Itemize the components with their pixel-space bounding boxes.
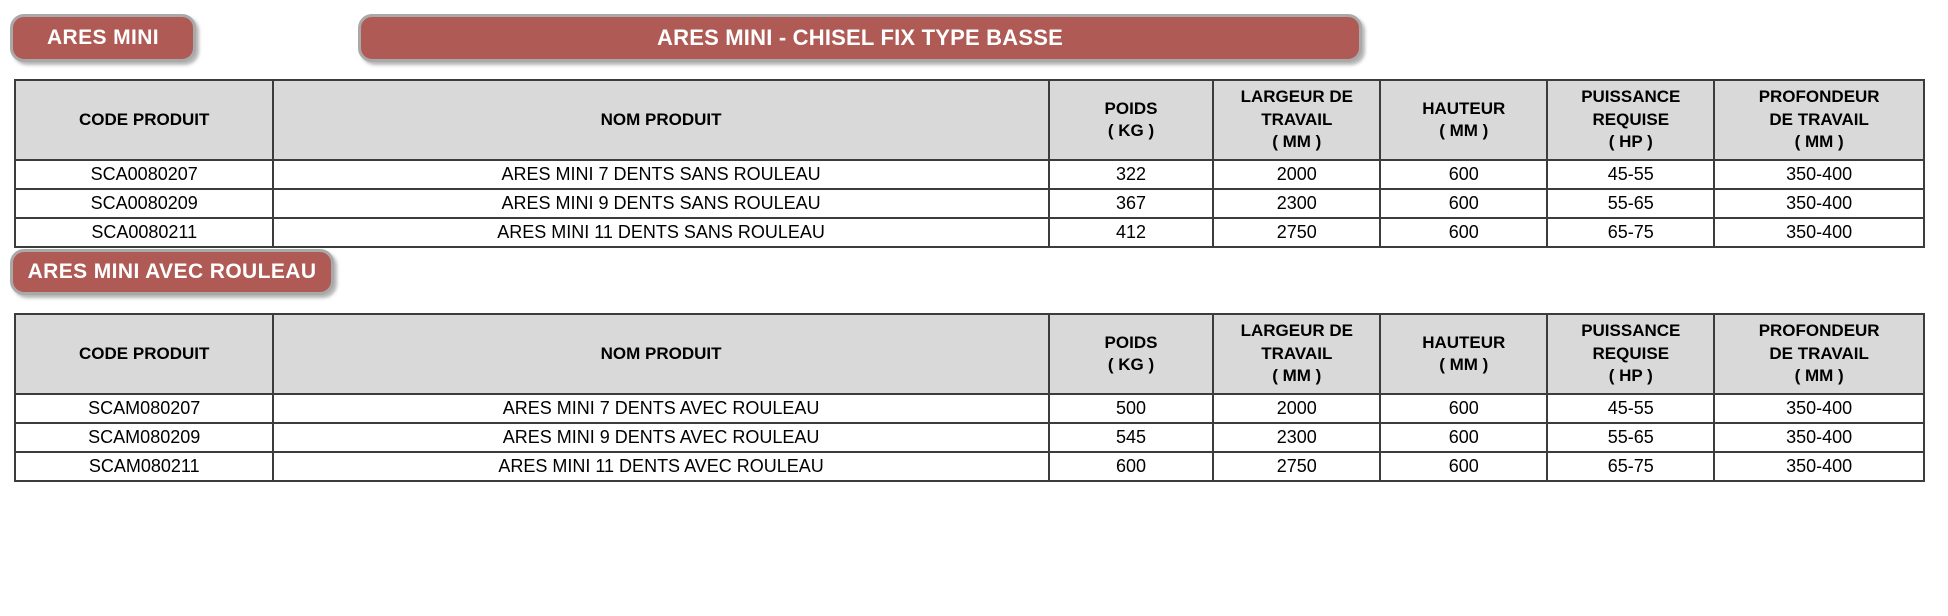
column-header-puissance-requise: PUISSANCE REQUISE ( HP )	[1547, 314, 1714, 394]
cell-hauteur: 600	[1380, 218, 1547, 247]
table-row: SCAM080211 ARES MINI 11 DENTS AVEC ROULE…	[15, 452, 1924, 481]
cell-poids: 545	[1049, 423, 1214, 452]
cell-poids: 322	[1049, 160, 1214, 189]
column-header-unit: ( MM )	[1218, 131, 1375, 153]
cell-puissance: 45-55	[1547, 394, 1714, 423]
column-header-unit: ( MM )	[1719, 365, 1919, 387]
cell-nom-produit: ARES MINI 9 DENTS SANS ROULEAU	[273, 189, 1048, 218]
cell-nom-produit: ARES MINI 9 DENTS AVEC ROULEAU	[273, 423, 1048, 452]
column-header-unit: ( MM )	[1385, 354, 1542, 376]
cell-profondeur: 350-400	[1714, 218, 1924, 247]
cell-profondeur: 350-400	[1714, 160, 1924, 189]
table-row: SCAM080209 ARES MINI 9 DENTS AVEC ROULEA…	[15, 423, 1924, 452]
cell-hauteur: 600	[1380, 394, 1547, 423]
cell-poids: 367	[1049, 189, 1214, 218]
column-header-code-produit: CODE PRODUIT	[15, 314, 273, 394]
column-header-nom-produit: NOM PRODUIT	[273, 314, 1048, 394]
table-row: SCA0080211 ARES MINI 11 DENTS SANS ROULE…	[15, 218, 1924, 247]
table-body-sans-rouleau: SCA0080207 ARES MINI 7 DENTS SANS ROULEA…	[15, 160, 1924, 247]
column-header-profondeur-de-travail: PROFONDEUR DE TRAVAIL ( MM )	[1714, 314, 1924, 394]
column-header-line1: NOM PRODUIT	[278, 109, 1043, 131]
cell-nom-produit: ARES MINI 7 DENTS AVEC ROULEAU	[273, 394, 1048, 423]
cell-puissance: 55-65	[1547, 423, 1714, 452]
column-header-poids: POIDS ( KG )	[1049, 80, 1214, 160]
column-header-line1: POIDS	[1054, 332, 1209, 354]
cell-puissance: 45-55	[1547, 160, 1714, 189]
column-header-line1: CODE PRODUIT	[20, 109, 268, 131]
cell-code-produit: SCAM080207	[15, 394, 273, 423]
product-family-badge: ARES MINI	[10, 14, 196, 62]
page-title: ARES MINI - CHISEL FIX TYPE BASSE	[657, 25, 1063, 51]
column-header-hauteur: HAUTEUR ( MM )	[1380, 314, 1547, 394]
column-header-line2: DE TRAVAIL	[1719, 109, 1919, 131]
column-header-line1: PROFONDEUR	[1719, 320, 1919, 342]
column-header-line1: PUISSANCE	[1552, 86, 1709, 108]
column-header-poids: POIDS ( KG )	[1049, 314, 1214, 394]
cell-puissance: 65-75	[1547, 452, 1714, 481]
cell-hauteur: 600	[1380, 189, 1547, 218]
column-header-line1: NOM PRODUIT	[278, 343, 1043, 365]
column-header-hauteur: HAUTEUR ( MM )	[1380, 80, 1547, 160]
column-header-line2: DE TRAVAIL	[1719, 343, 1919, 365]
cell-largeur: 2000	[1213, 160, 1380, 189]
column-header-line2: TRAVAIL	[1218, 109, 1375, 131]
column-header-line2: REQUISE	[1552, 343, 1709, 365]
cell-poids: 412	[1049, 218, 1214, 247]
column-header-line1: HAUTEUR	[1385, 332, 1542, 354]
cell-code-produit: SCA0080207	[15, 160, 273, 189]
column-header-unit: ( MM )	[1385, 120, 1542, 142]
column-header-largeur-de-travail: LARGEUR DE TRAVAIL ( MM )	[1213, 314, 1380, 394]
cell-nom-produit: ARES MINI 7 DENTS SANS ROULEAU	[273, 160, 1048, 189]
cell-nom-produit: ARES MINI 11 DENTS SANS ROULEAU	[273, 218, 1048, 247]
cell-largeur: 2300	[1213, 189, 1380, 218]
column-header-puissance-requise: PUISSANCE REQUISE ( HP )	[1547, 80, 1714, 160]
cell-profondeur: 350-400	[1714, 189, 1924, 218]
section-badge-avec-rouleau: ARES MINI AVEC ROULEAU	[10, 249, 334, 295]
column-header-line1: POIDS	[1054, 98, 1209, 120]
cell-hauteur: 600	[1380, 160, 1547, 189]
cell-poids: 500	[1049, 394, 1214, 423]
cell-largeur: 2300	[1213, 423, 1380, 452]
column-header-unit: ( MM )	[1218, 365, 1375, 387]
table-header-row: CODE PRODUIT NOM PRODUIT POIDS ( KG ) LA…	[15, 314, 1924, 394]
table-row: SCAM080207 ARES MINI 7 DENTS AVEC ROULEA…	[15, 394, 1924, 423]
spec-table-sans-rouleau: CODE PRODUIT NOM PRODUIT POIDS ( KG ) LA…	[14, 79, 1925, 248]
product-family-badge-label: ARES MINI	[47, 26, 159, 50]
column-header-largeur-de-travail: LARGEUR DE TRAVAIL ( MM )	[1213, 80, 1380, 160]
column-header-line1: LARGEUR DE	[1218, 86, 1375, 108]
cell-largeur: 2750	[1213, 452, 1380, 481]
column-header-line1: CODE PRODUIT	[20, 343, 268, 365]
section-badge-avec-rouleau-label: ARES MINI AVEC ROULEAU	[28, 260, 317, 284]
cell-largeur: 2000	[1213, 394, 1380, 423]
cell-hauteur: 600	[1380, 452, 1547, 481]
cell-hauteur: 600	[1380, 423, 1547, 452]
cell-profondeur: 350-400	[1714, 394, 1924, 423]
column-header-unit: ( MM )	[1719, 131, 1919, 153]
column-header-code-produit: CODE PRODUIT	[15, 80, 273, 160]
cell-largeur: 2750	[1213, 218, 1380, 247]
table-header-sans-rouleau: CODE PRODUIT NOM PRODUIT POIDS ( KG ) LA…	[15, 80, 1924, 160]
cell-code-produit: SCA0080209	[15, 189, 273, 218]
column-header-unit: ( KG )	[1054, 120, 1209, 142]
cell-code-produit: SCAM080211	[15, 452, 273, 481]
cell-nom-produit: ARES MINI 11 DENTS AVEC ROULEAU	[273, 452, 1048, 481]
column-header-line1: PUISSANCE	[1552, 320, 1709, 342]
table-row: SCA0080207 ARES MINI 7 DENTS SANS ROULEA…	[15, 160, 1924, 189]
cell-profondeur: 350-400	[1714, 423, 1924, 452]
spec-table-avec-rouleau: CODE PRODUIT NOM PRODUIT POIDS ( KG ) LA…	[14, 313, 1925, 482]
cell-puissance: 65-75	[1547, 218, 1714, 247]
table-header-row: CODE PRODUIT NOM PRODUIT POIDS ( KG ) LA…	[15, 80, 1924, 160]
table-row: SCA0080209 ARES MINI 9 DENTS SANS ROULEA…	[15, 189, 1924, 218]
column-header-line2: REQUISE	[1552, 109, 1709, 131]
column-header-nom-produit: NOM PRODUIT	[273, 80, 1048, 160]
cell-puissance: 55-65	[1547, 189, 1714, 218]
table-body-avec-rouleau: SCAM080207 ARES MINI 7 DENTS AVEC ROULEA…	[15, 394, 1924, 481]
column-header-unit: ( HP )	[1552, 365, 1709, 387]
column-header-line1: HAUTEUR	[1385, 98, 1542, 120]
cell-profondeur: 350-400	[1714, 452, 1924, 481]
cell-code-produit: SCA0080211	[15, 218, 273, 247]
column-header-line2: TRAVAIL	[1218, 343, 1375, 365]
page-title-banner: ARES MINI - CHISEL FIX TYPE BASSE	[358, 14, 1362, 62]
column-header-unit: ( HP )	[1552, 131, 1709, 153]
cell-poids: 600	[1049, 452, 1214, 481]
column-header-line1: LARGEUR DE	[1218, 320, 1375, 342]
column-header-unit: ( KG )	[1054, 354, 1209, 376]
table-header-avec-rouleau: CODE PRODUIT NOM PRODUIT POIDS ( KG ) LA…	[15, 314, 1924, 394]
column-header-line1: PROFONDEUR	[1719, 86, 1919, 108]
cell-code-produit: SCAM080209	[15, 423, 273, 452]
column-header-profondeur-de-travail: PROFONDEUR DE TRAVAIL ( MM )	[1714, 80, 1924, 160]
